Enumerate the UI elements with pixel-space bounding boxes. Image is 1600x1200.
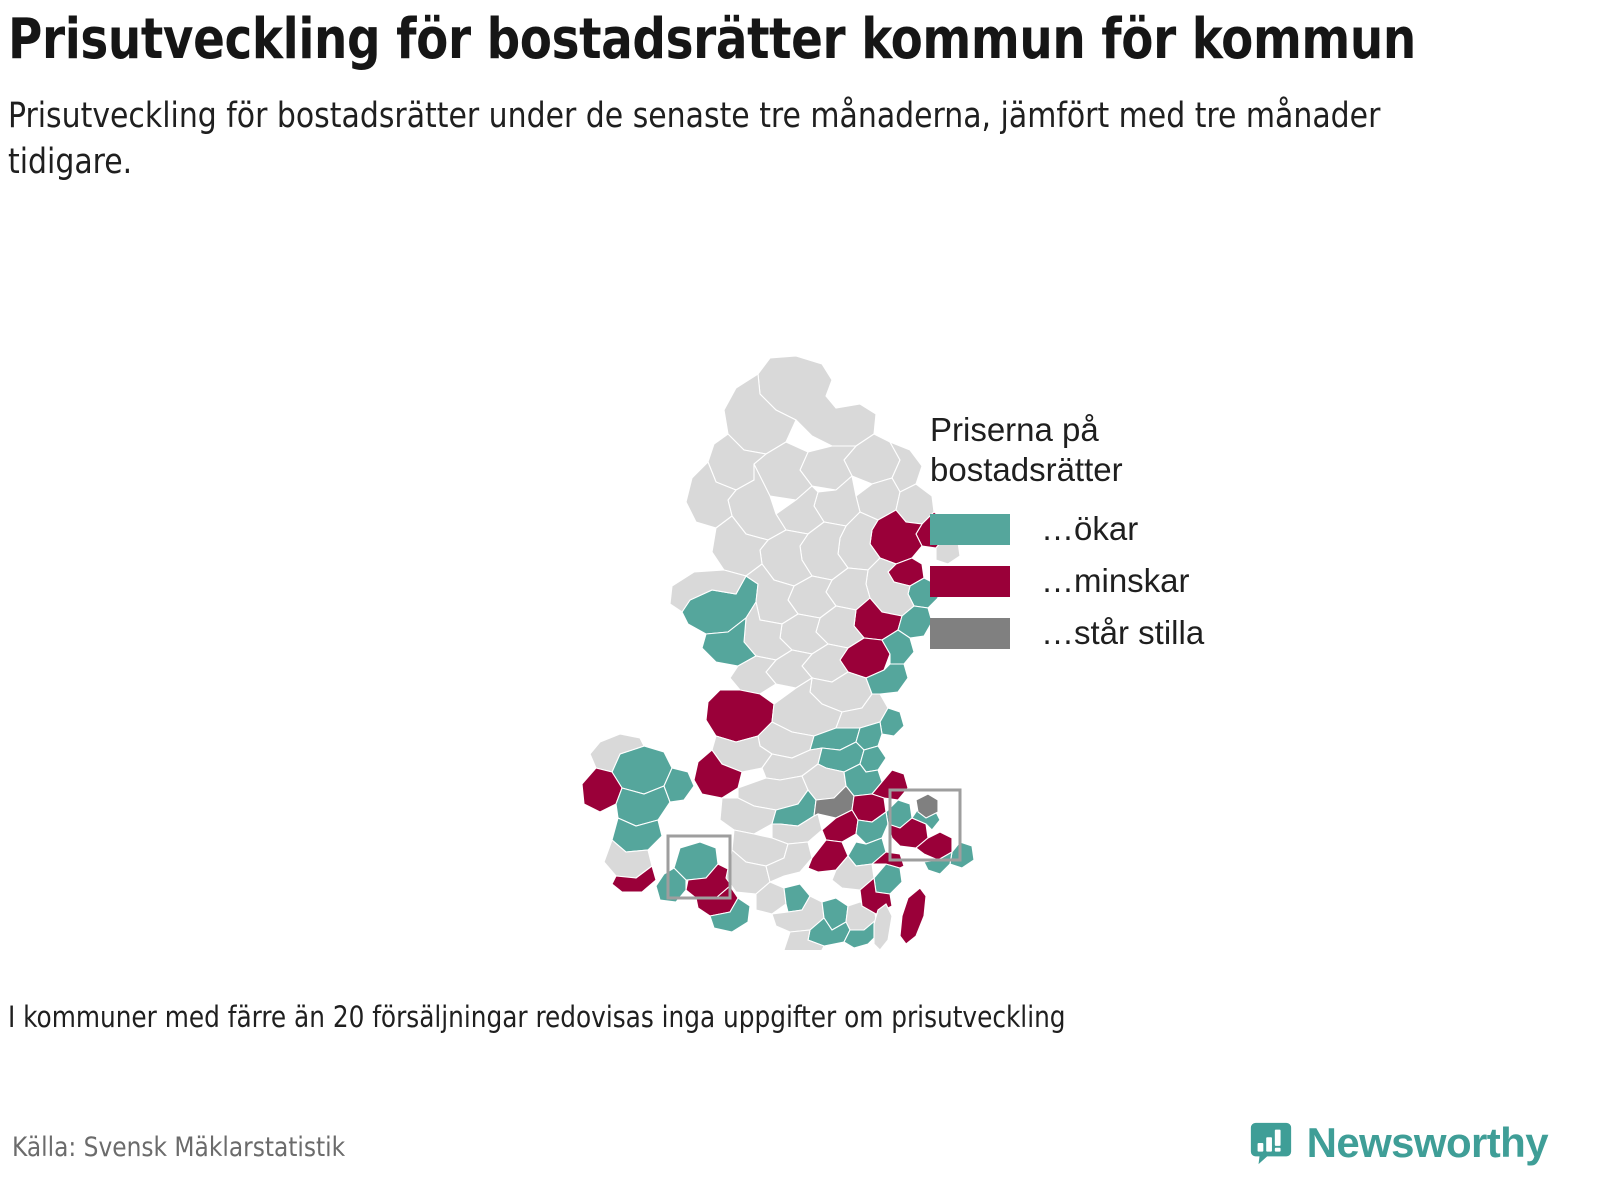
header: Prisutveckling för bostadsrätter kommun … [8, 8, 1568, 185]
legend-item-increase[interactable]: …ökar [930, 503, 1360, 555]
infographic-page: Prisutveckling för bostadsrätter kommun … [0, 0, 1600, 1200]
footer: Källa: Svensk Mäklarstatistik Newsworthy [0, 1120, 1600, 1200]
page-title: Prisutveckling för bostadsrätter kommun … [8, 8, 1459, 73]
legend-label-decrease: …minskar [1041, 562, 1190, 600]
brand-lockup: Newsworthy [1248, 1120, 1548, 1166]
legend-items: …ökar …minskar …står stilla [930, 503, 1360, 659]
region-gotland [900, 888, 926, 944]
legend-label-increase: …ökar [1041, 510, 1138, 548]
brand-name: Newsworthy [1307, 1122, 1548, 1164]
region-group-north [670, 356, 960, 634]
page-subtitle: Prisutveckling för bostadsrätter under d… [8, 93, 1490, 185]
legend-title: Priserna på bostadsrätter [930, 410, 1230, 489]
sweden-municipality-map: .m { stroke:#ffffff; stroke-width:1.1; }… [560, 350, 980, 950]
legend-swatch-increase [930, 514, 1010, 545]
map-footnote: I kommuner med färre än 20 försäljningar… [8, 1000, 1066, 1034]
map-legend: Priserna på bostadsrätter …ökar …minskar… [930, 410, 1360, 659]
source-label: Källa: Svensk Mäklarstatistik [12, 1132, 345, 1163]
legend-item-decrease[interactable]: …minskar [930, 555, 1360, 607]
map-area: .m { stroke:#ffffff; stroke-width:1.1; }… [0, 330, 1600, 970]
legend-label-flat: …står stilla [1041, 614, 1204, 652]
legend-swatch-decrease [930, 566, 1010, 597]
bar-chart-exclamation-icon [1248, 1120, 1294, 1166]
legend-swatch-flat [930, 618, 1010, 649]
legend-item-flat[interactable]: …står stilla [930, 607, 1360, 659]
map-regions [582, 356, 974, 950]
